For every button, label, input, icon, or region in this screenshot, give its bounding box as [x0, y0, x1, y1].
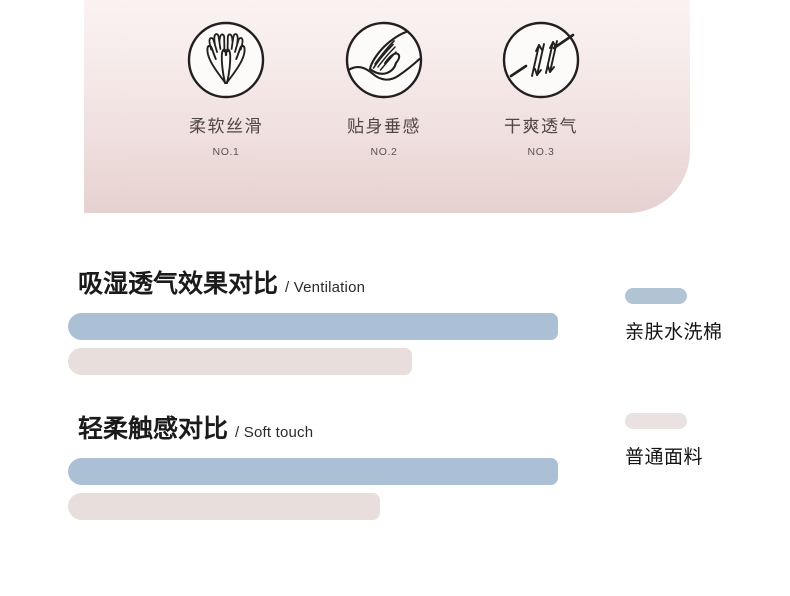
- feature-number: NO.3: [528, 146, 555, 158]
- hands-cupping-icon: [184, 18, 268, 102]
- legend-item-ordinary: 普通面料: [625, 413, 703, 469]
- bar-spacer: [68, 485, 558, 493]
- legend-label-ordinary: 普通面料: [625, 442, 703, 469]
- hand-on-fabric-icon: [342, 18, 426, 102]
- bar-premium-ventilation: [68, 313, 558, 340]
- bar-chart-soft-touch: [68, 458, 558, 520]
- feature-label: 贴身垂感: [347, 112, 421, 137]
- bar-ordinary-ventilation: [68, 348, 412, 375]
- bar-premium-soft-touch: [68, 458, 558, 485]
- group-subtitle: / Ventilation: [285, 280, 365, 295]
- legend-item-premium: 亲肤水洗棉: [625, 288, 723, 344]
- group-heading: 轻柔触感对比 / Soft touch: [78, 417, 313, 442]
- group-title: 吸湿透气效果对比: [78, 272, 278, 297]
- hero-feature-card: 柔软丝滑 NO.1 贴身垂感: [84, 0, 690, 213]
- feature-label: 柔软丝滑: [189, 112, 263, 137]
- airflow-arrows-icon: [499, 18, 583, 102]
- bar-spacer: [68, 340, 558, 348]
- group-subtitle: / Soft touch: [235, 425, 313, 440]
- feature-number: NO.1: [213, 146, 240, 158]
- bar-chart-ventilation: [68, 313, 558, 375]
- feature-item-1: 柔软丝滑 NO.1: [147, 18, 305, 158]
- group-heading: 吸湿透气效果对比 / Ventilation: [78, 272, 365, 297]
- bar-ordinary-soft-touch: [68, 493, 380, 520]
- legend-label-premium: 亲肤水洗棉: [625, 317, 723, 344]
- group-title: 轻柔触感对比: [78, 417, 228, 442]
- feature-item-2: 贴身垂感 NO.2: [305, 18, 463, 158]
- feature-label: 干爽透气: [504, 112, 578, 137]
- legend-swatch-ordinary: [625, 413, 687, 429]
- feature-item-3: 干爽透气 NO.3: [462, 18, 620, 158]
- page-root: 柔软丝滑 NO.1 贴身垂感: [0, 0, 790, 596]
- feature-number: NO.2: [371, 146, 398, 158]
- legend-swatch-premium: [625, 288, 687, 304]
